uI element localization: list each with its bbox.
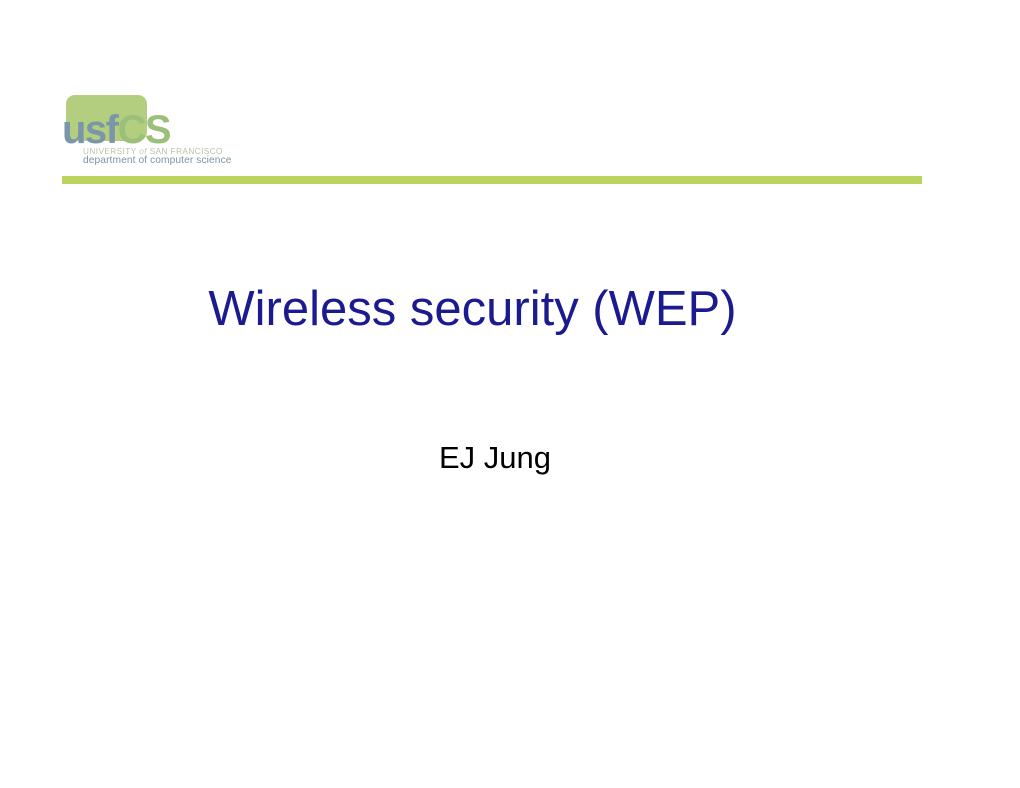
page-subtitle-author: EJ Jung bbox=[0, 437, 990, 479]
title-slide: usfCS UNIVERSITY of SAN FRANCISCO depart… bbox=[0, 0, 1020, 788]
logo-wordmark-usf: usf bbox=[62, 108, 118, 152]
page-title: Wireless security (WEP) bbox=[0, 278, 945, 340]
logo-wordmark: usfCS bbox=[62, 108, 262, 152]
header-divider bbox=[62, 176, 922, 184]
logo-department-line: department of computer science bbox=[83, 155, 232, 166]
usf-cs-logo: usfCS UNIVERSITY of SAN FRANCISCO depart… bbox=[62, 90, 262, 170]
logo-wordmark-cs: CS bbox=[118, 108, 171, 152]
